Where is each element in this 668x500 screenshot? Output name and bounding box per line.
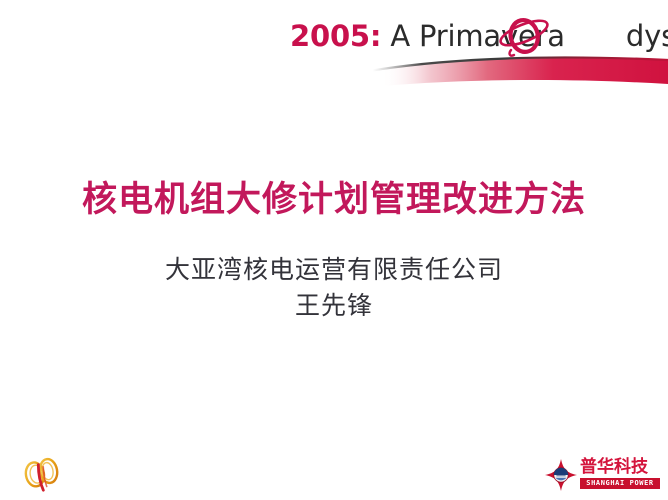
cp-monogram-logo-icon: [18, 454, 68, 494]
vendor-logo-text: 普华科技 SHANGHAI POWER: [578, 457, 662, 493]
vendor-chinese-name: 普华科技: [580, 457, 648, 477]
title-block: 核电机组大修计划管理改进方法: [0, 178, 668, 222]
vendor-diamond-mark-icon: [544, 458, 578, 492]
vendor-english-name: SHANGHAI POWER: [580, 478, 660, 489]
page-title: 核电机组大修计划管理改进方法: [0, 178, 668, 222]
subtitle-block: 大亚湾核电运营有限责任公司 王先锋: [0, 252, 668, 324]
slide-header-banner: 2005: A Primavera dyssey: [0, 0, 668, 100]
vendor-logo: 普华科技 SHANGHAI POWER: [544, 457, 662, 493]
presentation-slide: 2005: A Primavera dyssey: [0, 0, 668, 500]
subtitle-organization: 大亚湾核电运营有限责任公司: [0, 252, 668, 288]
subtitle-presenter: 王先锋: [0, 288, 668, 324]
header-swoosh-graphic: [0, 46, 668, 100]
